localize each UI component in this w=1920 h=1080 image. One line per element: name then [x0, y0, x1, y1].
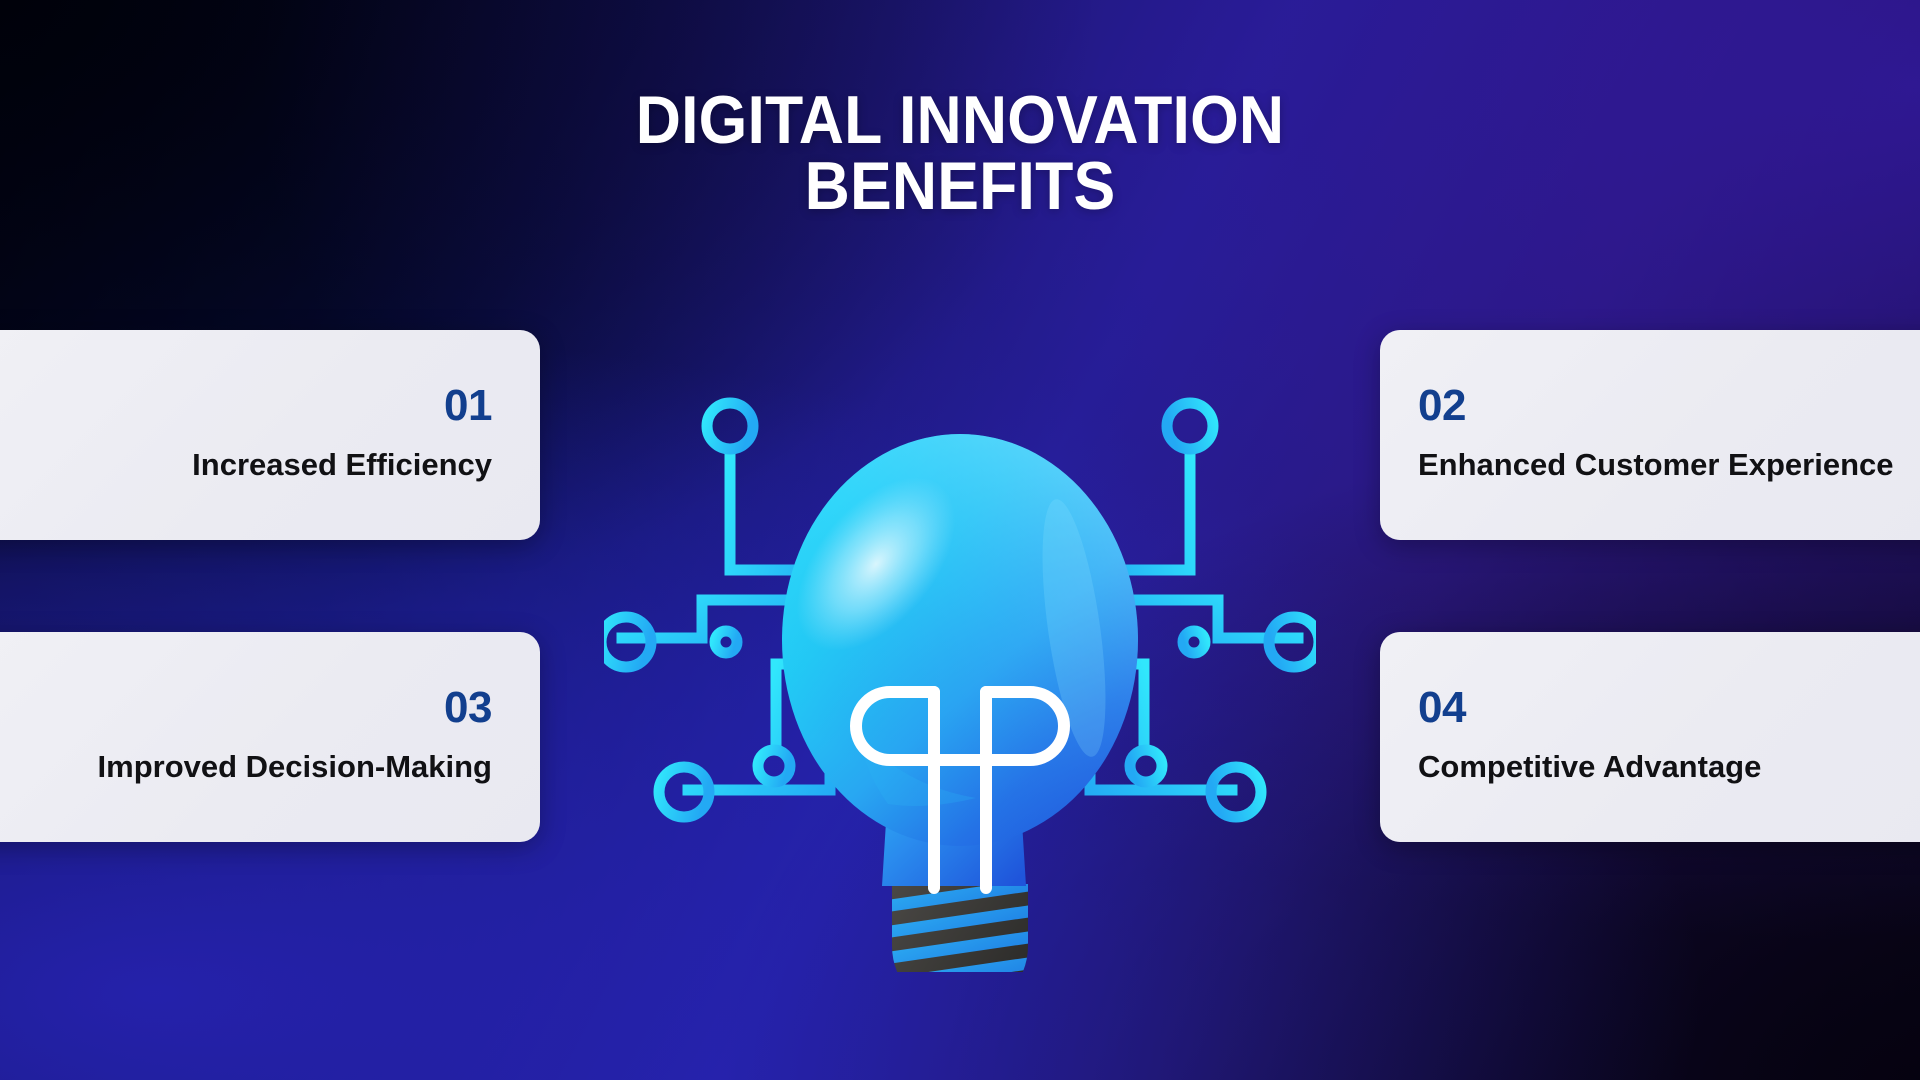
benefit-card-02[interactable]: 02 Enhanced Customer Experience — [1380, 330, 1920, 540]
circuit-node-ring — [758, 750, 790, 782]
circuit-node-ring — [707, 403, 753, 449]
benefit-card-03[interactable]: 03 Improved Decision-Making — [0, 632, 540, 842]
benefit-label: Competitive Advantage — [1418, 746, 1761, 788]
bulb-screw-base — [874, 882, 1052, 972]
lightbulb-circuit-icon — [604, 392, 1316, 972]
benefit-number: 01 — [444, 384, 492, 428]
page-title: DIGITAL INNOVATION BENEFITS — [77, 88, 1843, 220]
benefit-card-01[interactable]: 01 Increased Efficiency — [0, 330, 540, 540]
benefit-card-04[interactable]: 04 Competitive Advantage — [1380, 632, 1920, 842]
circuit-node-ring — [1130, 750, 1162, 782]
circuit-node-ring — [1167, 403, 1213, 449]
infographic-slide: DIGITAL INNOVATION BENEFITS — [0, 0, 1920, 1080]
benefit-label: Improved Decision-Making — [98, 746, 492, 788]
benefit-number: 04 — [1418, 686, 1466, 730]
benefit-number: 03 — [444, 686, 492, 730]
benefit-label: Enhanced Customer Experience — [1418, 444, 1894, 486]
benefit-number: 02 — [1418, 384, 1466, 428]
benefit-label: Increased Efficiency — [192, 444, 492, 486]
